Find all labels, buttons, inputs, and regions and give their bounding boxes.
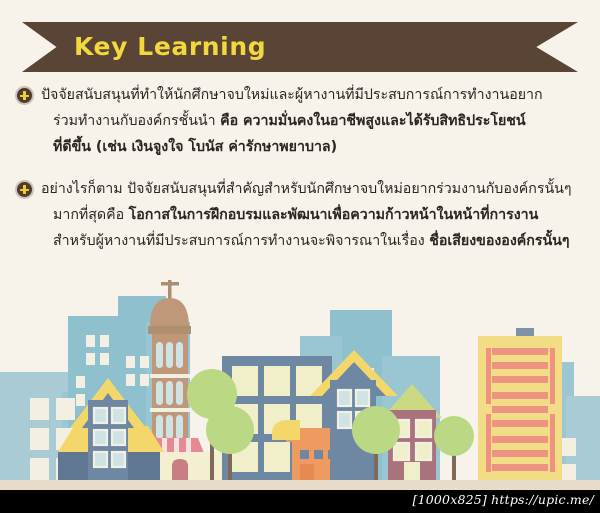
window [30,458,49,480]
church-window-group [156,342,183,439]
ground-strip [0,480,600,490]
tree-crown [206,406,254,454]
text-run: ปัจจัยสนับสนุนที่ทำให้นักศึกษาจบใหม่และผ… [41,87,543,103]
arched-window [166,415,173,439]
tower-stripe-group [486,348,555,472]
arched-window [166,381,173,405]
key-learning-banner: Key Learning [22,22,578,72]
tower-side-bar [550,414,555,472]
church-band [150,374,190,378]
bullet-line: อย่างไรก็ตาม ปัจจัยสนับสนุนที่สำคัญสำหรั… [41,176,588,202]
window [338,390,351,406]
window [76,394,85,406]
window [394,443,409,460]
window [112,430,125,445]
church-band [150,408,190,412]
bullet-line: ร่วมทำงานกับองค์กรชั้นนำ คือ ความมั่นคงใ… [41,108,588,134]
arched-window [156,415,163,439]
text-run: สำหรับผู้หางานที่มีประสบการณ์การทำงานจะพ… [53,233,429,249]
bullet-line: ที่ดีขึ้น (เช่น เงินจูงใจ โบนัส ค่ารักษา… [41,134,588,160]
rose-door [404,462,420,480]
window [560,438,576,456]
window [94,452,107,467]
house-left-wing [58,452,88,480]
window [300,450,309,459]
banner-title: Key Learning [74,22,266,72]
text-run-bold: ที่ดีขึ้น (เช่น เงินจูงใจ โบนัส ค่ารักษา… [53,139,337,155]
window [264,366,290,396]
window [338,412,351,428]
window [126,356,135,368]
orange-door [300,464,314,480]
bullet-line: ปัจจัยสนับสนุนที่ทำให้นักศึกษาจบใหม่และผ… [41,82,588,108]
tower-side-bar [486,348,491,404]
tree-crown [352,406,400,454]
shop-door-arch [172,459,188,480]
cityscape-illustration [0,280,600,490]
arched-window [156,342,163,368]
window [100,353,109,365]
window [264,442,290,472]
window [314,450,323,459]
window [30,398,49,420]
text-run: อย่างไรก็ตาม ปัจจัยสนับสนุนที่สำคัญสำหรั… [41,181,571,197]
bullet-item: ปัจจัยสนับสนุนที่ทำให้นักศึกษาจบใหม่และผ… [0,82,600,160]
bullet-line: สำหรับผู้หางานที่มีประสบการณ์การทำงานจะพ… [41,228,588,254]
window [86,353,95,365]
window [126,374,135,386]
window [140,356,149,368]
arched-window [176,415,183,439]
tower-side-bar [550,348,555,404]
yellow-striped-tower [478,328,562,480]
text-run: มากที่สุดคือ [53,207,129,223]
plus-circle-icon [17,182,32,197]
text-run-bold: โอกาสในการฝึกอบรมและพัฒนาเพื่อความก้าวหน… [129,207,539,223]
text-run-bold: คือ ความมั่นคงในอาชีพสูงและได้รับสิทธิปร… [220,113,526,129]
church-dome-base [148,326,191,334]
slide-canvas: Key Learning ปัจจัยสนับสนุนที่ทำให้นักศึ… [0,0,600,513]
window [94,408,107,423]
bullet-content: ปัจจัยสนับสนุนที่ทำให้นักศึกษาจบใหม่และผ… [0,82,600,270]
tower-antenna-base [516,328,534,336]
house-right-wing [128,452,160,480]
bullet-item: อย่างไรก็ตาม ปัจจัยสนับสนุนที่สำคัญสำหรั… [0,176,600,254]
watermark-text: [1000x825] https://upic.me/ [413,492,594,507]
window [94,430,107,445]
tree-crown [434,416,474,456]
plus-circle-icon [17,88,32,103]
bullet-line: มากที่สุดคือ โอกาสในการฝึกอบรมและพัฒนาเพ… [41,202,588,228]
cityscape-svg [0,280,600,490]
window [560,464,576,482]
tower-side-bar [486,414,491,472]
window [112,408,125,423]
church-cross-horizontal [161,282,179,286]
window [112,452,125,467]
window [30,428,49,450]
arched-window [156,381,163,405]
window [100,335,109,347]
window [76,376,85,388]
watermark-bar: [1000x825] https://upic.me/ [0,490,600,513]
window [140,374,149,386]
text-run: ร่วมทำงานกับองค์กรชั้นนำ [53,113,220,129]
window [56,398,75,420]
window [416,443,431,460]
window [86,335,95,347]
window [416,420,431,437]
arched-window [176,381,183,405]
arched-window [176,342,183,368]
window [356,390,369,406]
text-run-bold: ชื่อเสียงขององค์กรนั้นๆ [429,233,569,249]
arched-window [166,342,173,368]
